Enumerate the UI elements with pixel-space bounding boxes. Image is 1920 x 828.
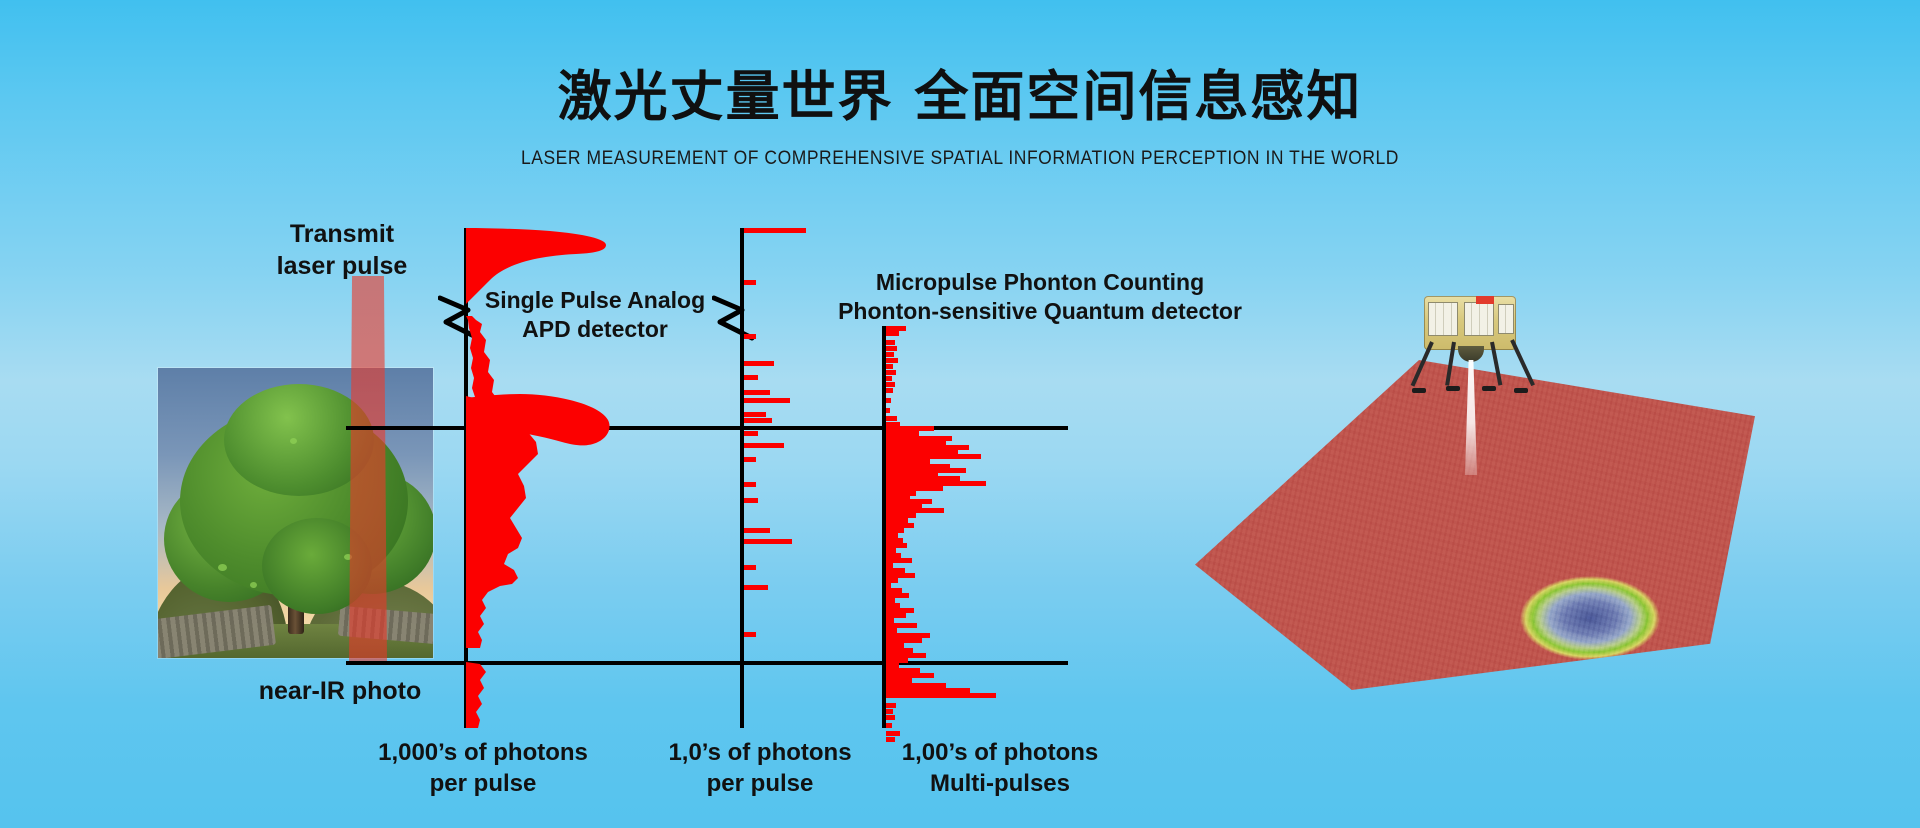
photon-count-spike [744,280,756,285]
photon-count-spike [744,528,770,533]
near-ir-tree-photo [158,368,433,658]
lander-foot [1412,388,1426,393]
photon-count-spike [886,340,895,345]
panel3-caption: 1,00’s of photons Multi-pulses [880,738,1120,799]
panel2-caption-line2: per pulse [650,769,870,800]
lunar-lander [1410,290,1530,400]
photon-count-spike [744,390,770,395]
lander-panel [1428,302,1458,336]
lander-foot [1482,386,1496,391]
panel2-caption-line1: 1,0’s of photons [650,738,870,769]
transmit-label-line2: laser pulse [232,250,452,282]
photon-count-spike [744,457,756,462]
panel1-title-line1: Single Pulse Analog [470,286,720,315]
photon-count-spike [886,364,893,369]
transmit-pulse-spike [744,228,806,233]
photon-count-spike [886,388,893,393]
lidar-terrain-scene [1195,290,1755,720]
photon-count-spike [886,398,891,403]
photon-count-spike [886,382,895,387]
photo-leaf-speck [218,564,227,571]
lander-foot [1514,388,1528,393]
photon-count-spike [886,703,896,708]
panel1-detector-title: Single Pulse Analog APD detector [470,286,720,345]
lander-scanning-laser-beam [1465,360,1477,475]
photo-leaf-speck [290,438,297,444]
near-ir-photo-label: near-IR photo [210,675,470,707]
infographic-canvas: 激光丈量世界 全面空间信息感知 LASER MEASUREMENT OF COM… [0,0,1920,828]
panel1-caption-line1: 1,000’s of photons [368,738,598,769]
panel3-caption-line1: 1,00’s of photons [880,738,1120,769]
transmit-laser-pulse-label: Transmit laser pulse [232,218,452,282]
photon-count-spike [886,331,899,336]
panel3-title-line2: Phonton-sensitive Quantum detector [830,297,1250,326]
panel1-caption-line2: per pulse [368,769,598,800]
lander-leg [1510,339,1535,386]
photon-count-spike [744,565,756,570]
photon-count-spike [744,443,784,448]
photon-count-spike [886,715,895,720]
photon-count-spike [744,398,790,403]
panel3-caption-line2: Multi-pulses [880,769,1120,800]
panel3-title-line1: Micropulse Phonton Counting [830,268,1250,297]
photon-count-spike [744,482,756,487]
photon-count-spike [744,632,756,637]
panel3-detector-title: Micropulse Phonton Counting Phonton-sens… [830,268,1250,327]
photon-count-spike [744,412,766,417]
photon-count-spike [886,693,996,698]
lidar-surface-texture [1195,360,1755,690]
panel2-caption: 1,0’s of photons per pulse [650,738,870,799]
photon-count-spike [886,352,894,357]
photon-count-spike [886,416,897,421]
lander-foot [1446,386,1460,391]
photon-count-spike [744,431,758,436]
lander-marker-light [1476,296,1494,304]
photon-count-spike [744,585,768,590]
photon-count-spike [886,709,893,714]
page-subtitle: LASER MEASUREMENT OF COMPREHENSIVE SPATI… [77,148,1843,170]
lander-engine-nozzle [1458,346,1484,362]
lander-panel [1464,302,1494,336]
photon-count-spike [886,723,892,728]
photon-count-spike [744,361,774,366]
photon-count-spike [744,539,792,544]
photon-count-spike [744,418,772,423]
page-title: 激光丈量世界 全面空间信息感知 [0,52,1920,131]
lander-leg [1411,341,1434,386]
panel3-histogram-waveform [886,326,1086,728]
photon-count-spike [886,376,892,381]
panel1-caption: 1,000’s of photons per pulse [368,738,598,799]
photon-count-spike [886,731,900,736]
photon-count-spike [744,498,758,503]
photon-count-spike [886,346,897,351]
transmit-label-line1: Transmit [232,218,452,250]
photon-count-spike [886,358,898,363]
photon-count-spike [744,334,756,339]
lander-panel [1498,304,1514,334]
photon-count-spike [886,408,890,413]
transmit-laser-beam [349,276,387,664]
panel1-title-line2: APD detector [470,315,720,344]
photo-leaf-speck [250,582,257,588]
photon-count-spike [744,375,758,380]
photon-count-spike [886,370,896,375]
